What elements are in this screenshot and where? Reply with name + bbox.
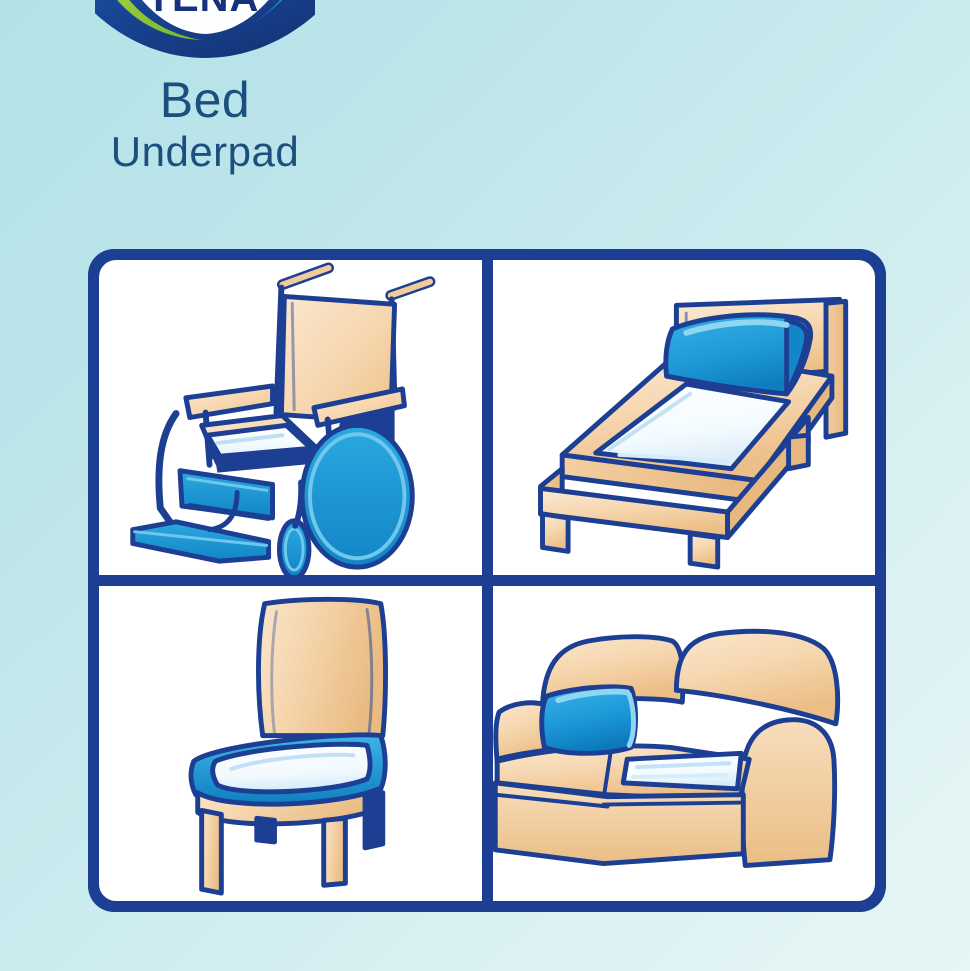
brand-block: TENA ® Bed Underpad <box>0 0 410 200</box>
product-package-artwork: TENA ® Bed Underpad <box>0 0 970 971</box>
product-name-line-2: Underpad <box>0 128 410 176</box>
sofa-with-underpad-icon <box>493 586 876 901</box>
wheelchair-with-underpad-icon <box>99 260 482 575</box>
usage-panel-bed[interactable] <box>493 260 876 575</box>
product-name-line-1: Bed <box>0 72 410 128</box>
bed-with-underpad-icon <box>493 260 876 575</box>
tena-leaf-logo-icon: TENA ® <box>95 0 315 70</box>
usage-panel-sofa[interactable] <box>493 586 876 901</box>
usage-scenarios-grid <box>88 249 886 912</box>
dining-chair-with-underpad-icon <box>99 586 482 901</box>
tena-wordmark: TENA <box>147 0 260 20</box>
usage-panel-wheelchair[interactable] <box>99 260 482 575</box>
usage-panel-chair[interactable] <box>99 586 482 901</box>
